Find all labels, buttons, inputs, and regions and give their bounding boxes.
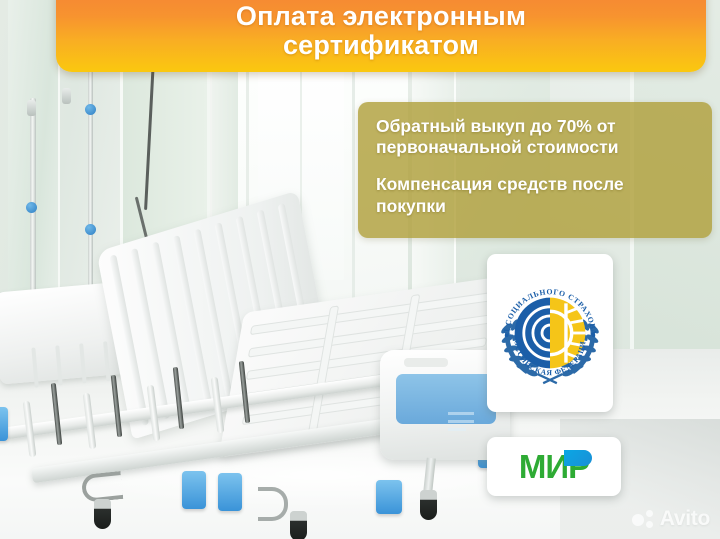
footboard-brand-mark xyxy=(448,412,474,432)
footboard-blue-panel xyxy=(396,374,496,424)
iv-pole-cap xyxy=(27,100,36,116)
bed-crank-handle-right xyxy=(258,487,288,521)
lift-rod-2 xyxy=(111,375,122,437)
blue-bumper-1 xyxy=(0,407,8,441)
benefit-compensation-line-1: Компенсация средств после xyxy=(376,174,696,195)
advertisement-image: Оплата электронным сертификатом Обратный… xyxy=(0,0,720,539)
fss-emblem-icon: ФОНД СОЦИАЛЬНОГО СТРАХОВАНИЯ РОССИЙСКАЯ … xyxy=(493,276,607,390)
blue-bumper-4 xyxy=(376,480,402,514)
avito-dots-icon xyxy=(632,509,655,529)
avito-watermark: Avito xyxy=(632,507,710,531)
blue-bumper-2 xyxy=(182,471,206,509)
bed-caster-3 xyxy=(420,490,437,520)
mir-wordmark: МИР xyxy=(519,448,589,486)
title-banner: Оплата электронным сертификатом xyxy=(56,0,706,72)
mir-logo-card: МИР xyxy=(487,437,621,496)
fss-logo-card: ФОНД СОЦИАЛЬНОГО СТРАХОВАНИЯ РОССИЙСКАЯ … xyxy=(487,254,613,412)
benefit-compensation-line-2: покупки xyxy=(376,196,696,217)
benefit-buyback-line-2: первоначальной стоимости xyxy=(376,137,696,158)
mir-swoosh-icon xyxy=(564,450,592,466)
benefit-buyback-line-1: Обратный выкуп до 70% от xyxy=(376,116,696,137)
benefit-compensation: Компенсация средств после покупки xyxy=(376,174,696,216)
benefit-buyback: Обратный выкуп до 70% от первоначальной … xyxy=(376,116,696,158)
banner-title-line-2: сертификатом xyxy=(236,31,526,60)
banner-title-line-1: Оплата электронным xyxy=(236,2,526,31)
bed-caster-1 xyxy=(94,499,111,529)
avito-wordmark: Avito xyxy=(660,507,710,531)
iv-knob-1 xyxy=(85,104,96,115)
benefits-box: Обратный выкуп до 70% от первоначальной … xyxy=(358,102,712,238)
lift-rod-1 xyxy=(51,383,62,445)
iv-knob-3 xyxy=(26,202,37,213)
blue-bumper-3 xyxy=(218,473,242,511)
iv-pole-cap-2 xyxy=(62,88,71,104)
banner-title: Оплата электронным сертификатом xyxy=(236,2,526,60)
bed-caster-2 xyxy=(290,511,307,539)
footboard-handle xyxy=(404,358,448,367)
